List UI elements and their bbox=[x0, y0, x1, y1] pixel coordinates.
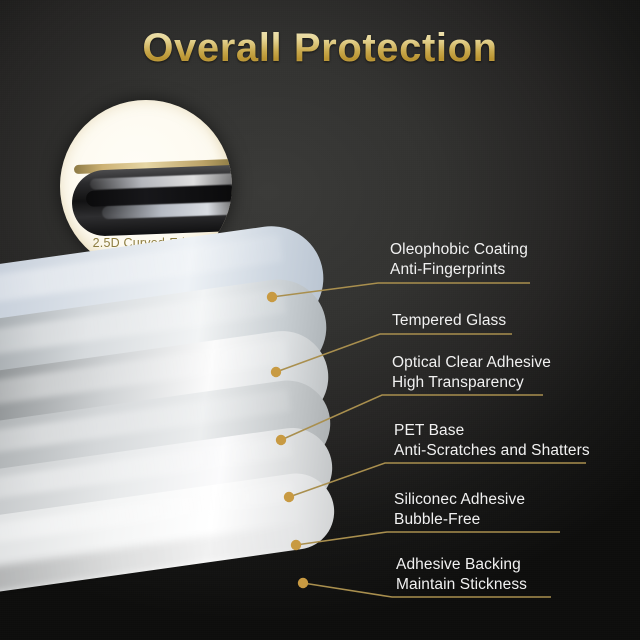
callout-6-line-2: Maintain Stickness bbox=[396, 575, 527, 595]
anchor-dot-4 bbox=[284, 492, 294, 502]
callout-label-5: Siliconec Adhesive Bubble-Free bbox=[394, 490, 525, 530]
anchor-dot-1 bbox=[267, 292, 277, 302]
callout-6-line-1: Adhesive Backing bbox=[396, 555, 527, 575]
leader-line-1 bbox=[272, 283, 530, 297]
callout-1-line-2: Anti-Fingerprints bbox=[390, 260, 528, 280]
callout-label-4: PET Base Anti-Scratches and Shatters bbox=[394, 421, 590, 461]
callout-label-1: Oleophobic Coating Anti-Fingerprints bbox=[390, 240, 528, 280]
anchor-dot-2 bbox=[271, 367, 281, 377]
callout-3-line-2: High Transparency bbox=[392, 373, 551, 393]
callout-4-line-1: PET Base bbox=[394, 421, 590, 441]
anchor-dot-6 bbox=[298, 578, 308, 588]
callout-3-line-1: Optical Clear Adhesive bbox=[392, 353, 551, 373]
callout-2-line-1: Tempered Glass bbox=[392, 311, 506, 331]
anchor-dot-5 bbox=[291, 540, 301, 550]
product-infographic: Overall Protection 2.5D Curved-Edge bbox=[0, 0, 640, 640]
callout-4-line-2: Anti-Scratches and Shatters bbox=[394, 441, 590, 461]
callout-label-6: Adhesive Backing Maintain Stickness bbox=[396, 555, 527, 595]
callout-label-3: Optical Clear Adhesive High Transparency bbox=[392, 353, 551, 393]
callout-leader-lines bbox=[0, 0, 640, 640]
anchor-dot-3 bbox=[276, 435, 286, 445]
callout-1-line-1: Oleophobic Coating bbox=[390, 240, 528, 260]
leader-line-5 bbox=[296, 532, 560, 545]
callout-label-2: Tempered Glass bbox=[392, 311, 506, 331]
callout-5-line-2: Bubble-Free bbox=[394, 510, 525, 530]
callout-5-line-1: Siliconec Adhesive bbox=[394, 490, 525, 510]
